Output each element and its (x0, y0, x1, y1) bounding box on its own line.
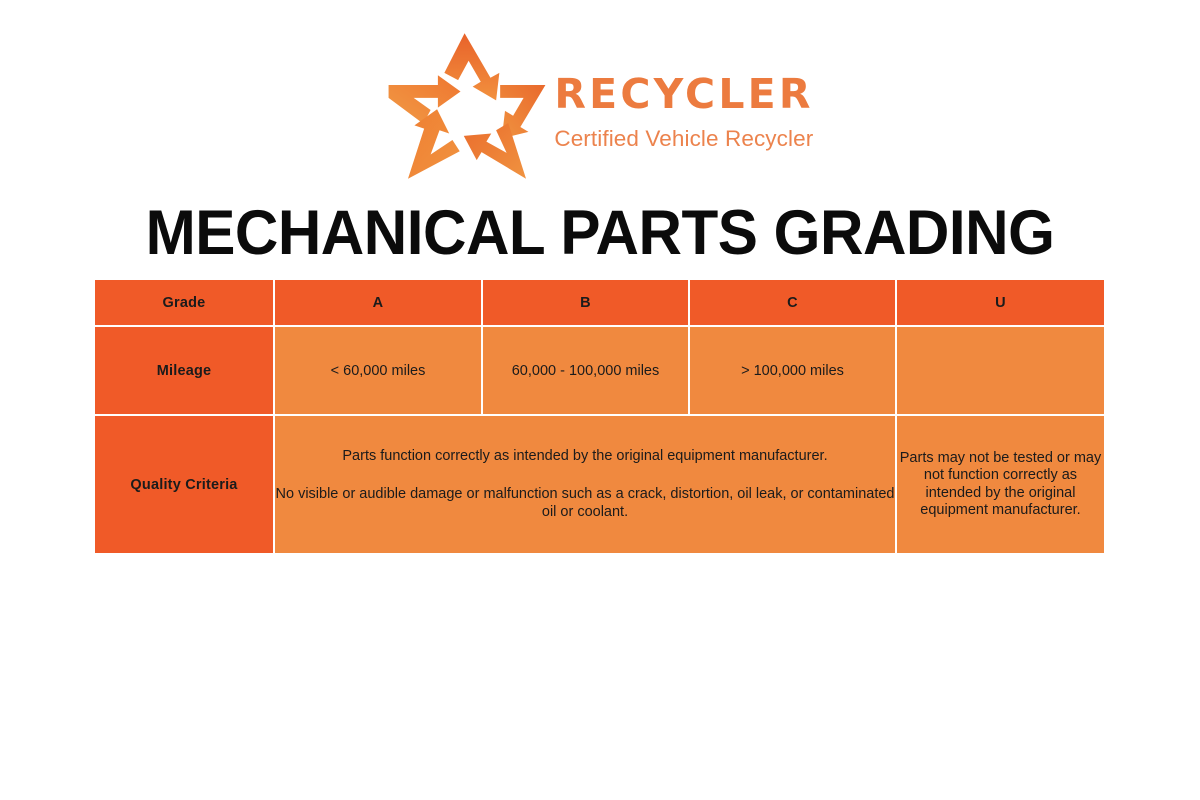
quality-criteria-paragraph-2: No visible or audible damage or malfunct… (275, 485, 895, 522)
quality-criteria-abc: Parts function correctly as intended by … (275, 416, 897, 553)
header-cell-b: B (483, 280, 690, 327)
row-label-mileage: Mileage (95, 327, 275, 416)
mechanical-parts-grading-table: Grade A B C U Mileage < 60,000 miles 60,… (95, 280, 1104, 553)
quality-criteria-u: Parts may not be tested or may not funct… (897, 416, 1104, 553)
header-cell-c: C (690, 280, 897, 327)
page-title: MECHANICAL PARTS GRADING (27, 197, 1173, 269)
table-header-row: Grade A B C U (95, 280, 1104, 327)
mileage-grade-c: > 100,000 miles (690, 327, 897, 416)
recycling-star-icon (386, 30, 548, 182)
logo-wordmark: RECYCLER (554, 74, 813, 115)
header-cell-a: A (275, 280, 483, 327)
logo-inner: RECYCLER Certified Vehicle Recycler (386, 30, 813, 182)
mileage-grade-b: 60,000 - 100,000 miles (483, 327, 690, 416)
mileage-grade-a: < 60,000 miles (275, 327, 483, 416)
quality-criteria-paragraph-1: Parts function correctly as intended by … (275, 447, 895, 466)
logo-text-group: RECYCLER Certified Vehicle Recycler (554, 60, 813, 151)
table-row-mileage: Mileage < 60,000 miles 60,000 - 100,000 … (95, 327, 1104, 416)
table-row-quality-criteria: Quality Criteria Parts function correctl… (95, 416, 1104, 553)
row-label-quality-criteria: Quality Criteria (95, 416, 275, 553)
brand-logo: RECYCLER Certified Vehicle Recycler (0, 28, 1200, 183)
header-cell-u: U (897, 280, 1104, 327)
grading-chart-page: RECYCLER Certified Vehicle Recycler MECH… (0, 0, 1200, 800)
header-cell-grade: Grade (95, 280, 275, 327)
mileage-grade-u (897, 327, 1104, 416)
logo-tagline: Certified Vehicle Recycler (554, 128, 813, 151)
